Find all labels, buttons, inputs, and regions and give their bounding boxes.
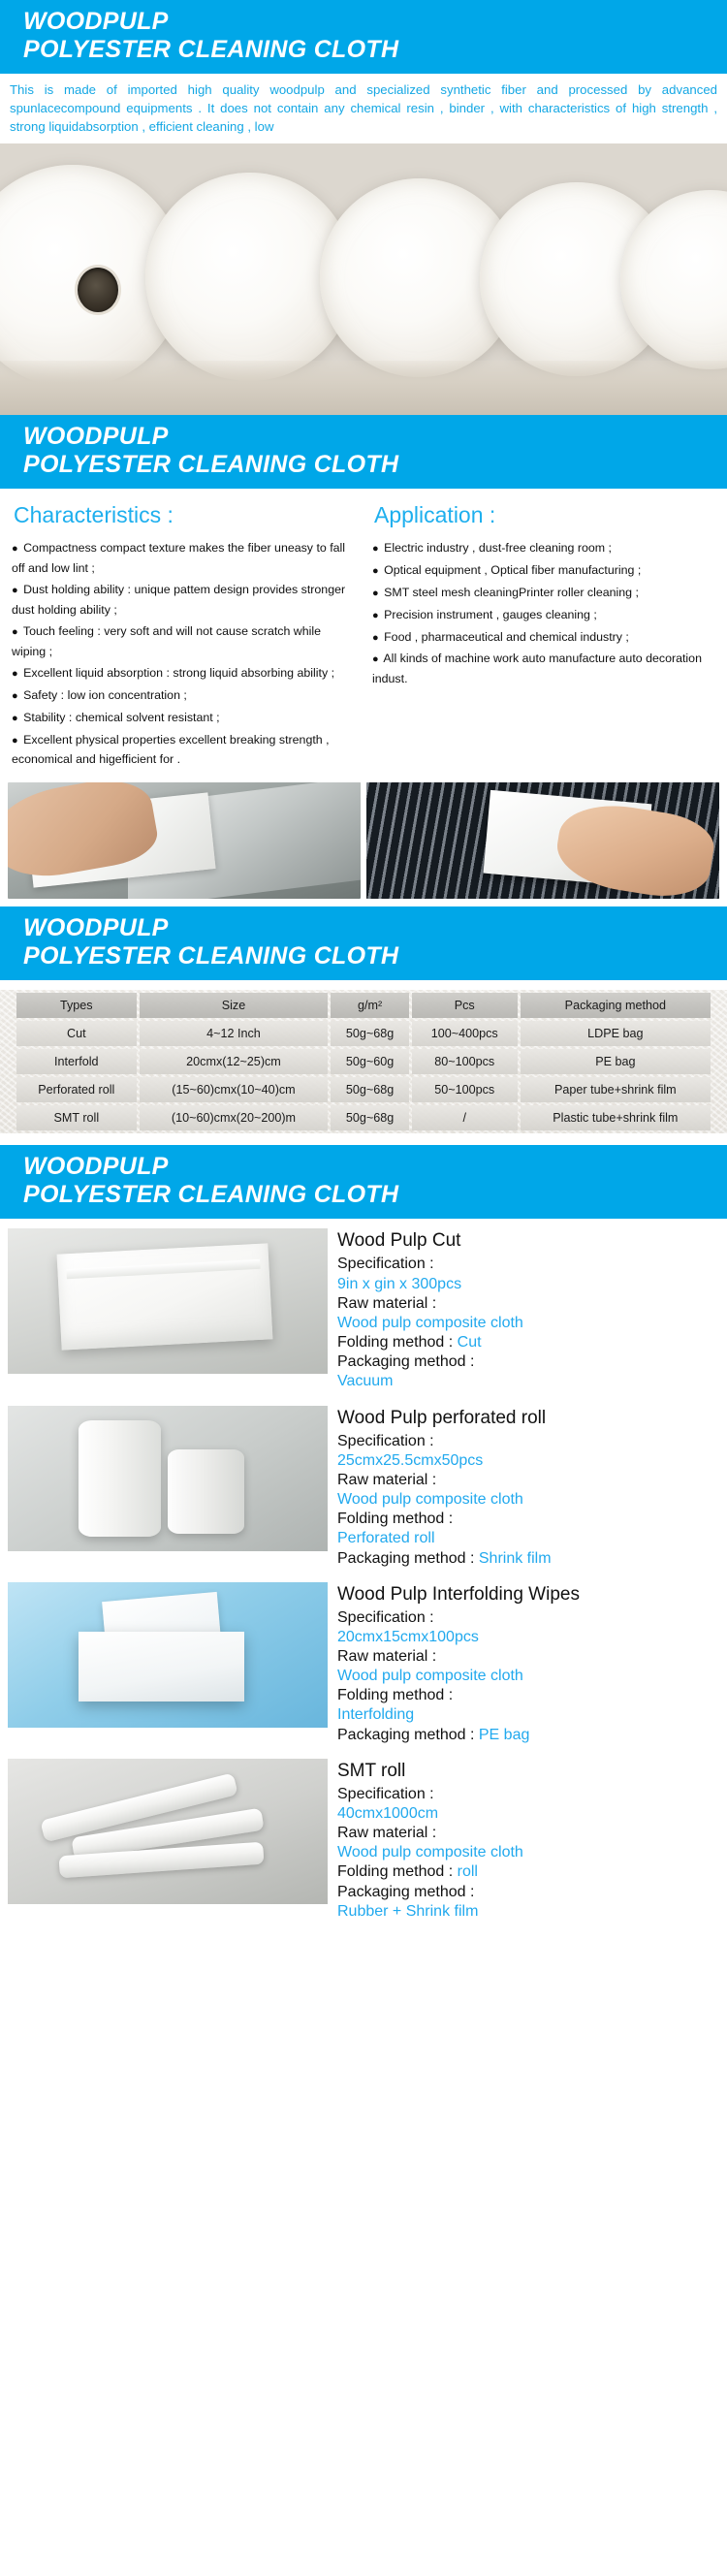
table-row: Perforated roll (15~60)cmx(10~40)cm 50g~… — [16, 1077, 711, 1102]
folding-method-label: Folding method : — [337, 1510, 719, 1529]
raw-material-value: Wood pulp composite cloth — [337, 1490, 719, 1510]
characteristics-item: ● Stability : chemical solvent resistant… — [10, 708, 357, 728]
application-item: ● Food , pharmaceutical and chemical ind… — [370, 627, 717, 648]
table-header-cell: Size — [140, 993, 329, 1018]
table-cell: Paper tube+shrink film — [521, 1077, 711, 1102]
usage-photo-laptop-wiping — [8, 782, 361, 899]
surface-shadow — [0, 361, 727, 415]
specification-table: Types Size g/m² Pcs Packaging method Cut… — [14, 990, 713, 1133]
table-cell: 4~12 Inch — [140, 1021, 329, 1046]
specification-label: Specification : — [337, 1432, 719, 1451]
bullet-dot-icon: ● — [372, 610, 381, 621]
table-cell: 50g~68g — [331, 1105, 408, 1130]
product-thumbnail-perforated-roll — [8, 1406, 328, 1551]
characteristics-item-text: Excellent liquid absorption : strong liq… — [23, 666, 334, 680]
table-header-cell: g/m² — [331, 993, 408, 1018]
roll-image-small — [168, 1449, 244, 1534]
banner-line-2: POLYESTER CLEANING CLOTH — [23, 451, 727, 479]
banner-heading-2: WOODPULP POLYESTER CLEANING CLOTH — [0, 415, 727, 489]
application-item-text: SMT steel mesh cleaningPrinter roller cl… — [384, 586, 639, 599]
banner-line-1: WOODPULP — [23, 423, 169, 450]
banner-line-2: POLYESTER CLEANING CLOTH — [23, 36, 727, 64]
table-cell: 100~400pcs — [412, 1021, 518, 1046]
wipe-stack-image — [56, 1244, 272, 1351]
product-thumbnail-cut — [8, 1228, 328, 1374]
table-cell: Plastic tube+shrink film — [521, 1105, 711, 1130]
product-title: SMT roll — [337, 1761, 719, 1782]
raw-material-value: Wood pulp composite cloth — [337, 1667, 719, 1686]
raw-material-value: Wood pulp composite cloth — [337, 1314, 719, 1333]
intro-paragraph: This is made of imported high quality wo… — [0, 74, 727, 143]
packaging-method-value: Rubber + Shrink film — [337, 1902, 719, 1922]
folding-method-value: Cut — [458, 1334, 482, 1351]
characteristics-item: ● Safety : low ion concentration ; — [10, 685, 357, 706]
table-header-cell: Pcs — [412, 993, 518, 1018]
bullet-dot-icon: ● — [372, 588, 381, 599]
spec-table-section: Types Size g/m² Pcs Packaging method Cut… — [0, 990, 727, 1133]
table-cell: Cut — [16, 1021, 137, 1046]
features-columns: Characteristics : ● Compactness compact … — [0, 489, 727, 777]
specification-label: Specification : — [337, 1255, 719, 1274]
characteristics-heading: Characteristics : — [14, 502, 357, 528]
characteristics-item-text: Excellent physical properties excellent … — [12, 733, 330, 767]
application-column: Application : ● Electric industry , dust… — [370, 502, 717, 771]
product-info: Wood Pulp Cut Specification : 9in x gin … — [337, 1228, 719, 1391]
application-item-text: Food , pharmaceutical and chemical indus… — [384, 630, 629, 644]
banner-line-1: WOODPULP — [23, 1153, 169, 1180]
application-item-text: Electric industry , dust-free cleaning r… — [384, 541, 612, 555]
usage-photo-car-grille-wiping — [366, 782, 719, 899]
product-thumbnail-interfolding — [8, 1582, 328, 1728]
folding-method-label: Folding method : — [337, 1863, 453, 1880]
table-cell: (10~60)cmx(20~200)m — [140, 1105, 329, 1130]
table-cell: 50g~68g — [331, 1077, 408, 1102]
raw-material-label: Raw material : — [337, 1647, 719, 1667]
application-item-text: All kinds of machine work auto manufactu… — [372, 652, 702, 685]
packaging-method-label: Packaging method : — [337, 1352, 719, 1372]
bullet-dot-icon: ● — [12, 585, 20, 596]
table-cell: / — [412, 1105, 518, 1130]
product-detail-page: WOODPULP POLYESTER CLEANING CLOTH This i… — [0, 0, 727, 1939]
banner-line-2: POLYESTER CLEANING CLOTH — [23, 942, 727, 970]
characteristics-item-text: Touch feeling : very soft and will not c… — [12, 624, 321, 658]
table-cell: (15~60)cmx(10~40)cm — [140, 1077, 329, 1102]
application-item: ● Electric industry , dust-free cleaning… — [370, 538, 717, 558]
table-cell: LDPE bag — [521, 1021, 711, 1046]
characteristics-item-text: Compactness compact texture makes the fi… — [12, 541, 345, 575]
packaging-method-label: Packaging method : — [337, 1550, 474, 1567]
specification-value: 40cmx1000cm — [337, 1804, 719, 1824]
bullet-dot-icon: ● — [12, 713, 20, 724]
table-header-row: Types Size g/m² Pcs Packaging method — [16, 993, 711, 1018]
application-heading: Application : — [374, 502, 717, 528]
packaging-method-value: PE bag — [479, 1727, 529, 1743]
table-row: Interfold 20cmx(12~25)cm 50g~60g 80~100p… — [16, 1049, 711, 1074]
product-card-smt-roll: SMT roll Specification : 40cmx1000cm Raw… — [0, 1753, 727, 1929]
product-thumbnail-smt-roll — [8, 1759, 328, 1904]
product-info: Wood Pulp perforated roll Specification … — [337, 1406, 719, 1569]
table-cell: 20cmx(12~25)cm — [140, 1049, 329, 1074]
application-item: ● SMT steel mesh cleaningPrinter roller … — [370, 583, 717, 603]
specification-label: Specification : — [337, 1608, 719, 1628]
banner-line-1: WOODPULP — [23, 8, 169, 35]
raw-material-label: Raw material : — [337, 1824, 719, 1843]
product-title: Wood Pulp Interfolding Wipes — [337, 1584, 719, 1606]
characteristics-item: ● Compactness compact texture makes the … — [10, 538, 357, 578]
application-item-text: Precision instrument , gauges cleaning ; — [384, 608, 597, 621]
table-cell: 50g~60g — [331, 1049, 408, 1074]
bullet-dot-icon: ● — [372, 565, 381, 577]
characteristics-column: Characteristics : ● Compactness compact … — [10, 502, 357, 771]
table-cell: 50g~68g — [331, 1021, 408, 1046]
packaging-method-label: Packaging method : — [337, 1727, 474, 1743]
packaging-method-row: Packaging method : PE bag — [337, 1726, 719, 1745]
roll-image-large — [79, 1420, 162, 1537]
bullet-dot-icon: ● — [12, 690, 20, 702]
specification-value: 20cmx15cmx100pcs — [337, 1628, 719, 1647]
folding-method-label: Folding method : — [337, 1686, 719, 1705]
table-header-cell: Packaging method — [521, 993, 711, 1018]
raw-material-label: Raw material : — [337, 1294, 719, 1314]
folding-method-value: Interfolding — [337, 1705, 719, 1725]
packaging-method-value: Shrink film — [479, 1550, 552, 1567]
characteristics-item: ● Excellent physical properties excellen… — [10, 730, 357, 770]
characteristics-item-text: Safety : low ion concentration ; — [23, 688, 187, 702]
banner-line-1: WOODPULP — [23, 914, 169, 941]
packaging-method-value: Vacuum — [337, 1372, 719, 1391]
usage-photo-strip — [0, 777, 727, 906]
product-card-wood-pulp-perforated-roll: Wood Pulp perforated roll Specification … — [0, 1400, 727, 1576]
banner-heading-3: WOODPULP POLYESTER CLEANING CLOTH — [0, 906, 727, 980]
application-item: ● All kinds of machine work auto manufac… — [370, 649, 717, 688]
bullet-dot-icon: ● — [372, 632, 381, 644]
packaging-method-label: Packaging method : — [337, 1883, 719, 1902]
application-item-text: Optical equipment , Optical fiber manufa… — [384, 563, 641, 577]
table-row: Cut 4~12 Inch 50g~68g 100~400pcs LDPE ba… — [16, 1021, 711, 1046]
banner-line-2: POLYESTER CLEANING CLOTH — [23, 1181, 727, 1209]
specification-value: 9in x gin x 300pcs — [337, 1275, 719, 1294]
bullet-dot-icon: ● — [372, 653, 381, 665]
folding-method-label: Folding method : — [337, 1334, 453, 1351]
characteristics-item: ● Dust holding ability : unique pattem d… — [10, 580, 357, 620]
product-title: Wood Pulp Cut — [337, 1230, 719, 1252]
product-hero-photo-rolls — [0, 143, 727, 415]
folding-method-value: Perforated roll — [337, 1529, 719, 1548]
product-cards-list: Wood Pulp Cut Specification : 9in x gin … — [0, 1219, 727, 1938]
table-row: SMT roll (10~60)cmx(20~200)m 50g~68g / P… — [16, 1105, 711, 1130]
folding-method-row: Folding method : Cut — [337, 1333, 719, 1352]
banner-heading-1: WOODPULP POLYESTER CLEANING CLOTH — [0, 0, 727, 74]
application-item: ● Precision instrument , gauges cleaning… — [370, 605, 717, 625]
table-cell: SMT roll — [16, 1105, 137, 1130]
specification-label: Specification : — [337, 1785, 719, 1804]
table-header-cell: Types — [16, 993, 137, 1018]
folding-method-value: roll — [458, 1863, 478, 1880]
characteristics-item-text: Stability : chemical solvent resistant ; — [23, 711, 219, 724]
dispenser-box-image — [79, 1632, 245, 1701]
bullet-dot-icon: ● — [12, 668, 20, 680]
bullet-dot-icon: ● — [12, 735, 20, 747]
product-info: SMT roll Specification : 40cmx1000cm Raw… — [337, 1759, 719, 1922]
raw-material-value: Wood pulp composite cloth — [337, 1843, 719, 1862]
characteristics-item-text: Dust holding ability : unique pattem des… — [12, 583, 345, 617]
product-card-wood-pulp-cut: Wood Pulp Cut Specification : 9in x gin … — [0, 1223, 727, 1399]
table-cell: PE bag — [521, 1049, 711, 1074]
specification-value: 25cmx25.5cmx50pcs — [337, 1451, 719, 1471]
table-cell: 50~100pcs — [412, 1077, 518, 1102]
product-info: Wood Pulp Interfolding Wipes Specificati… — [337, 1582, 719, 1745]
characteristics-item: ● Touch feeling : very soft and will not… — [10, 621, 357, 661]
product-card-wood-pulp-interfolding-wipes: Wood Pulp Interfolding Wipes Specificati… — [0, 1576, 727, 1753]
folding-method-row: Folding method : roll — [337, 1862, 719, 1882]
banner-heading-4: WOODPULP POLYESTER CLEANING CLOTH — [0, 1145, 727, 1219]
application-item: ● Optical equipment , Optical fiber manu… — [370, 560, 717, 581]
bullet-dot-icon: ● — [12, 543, 20, 555]
table-cell: 80~100pcs — [412, 1049, 518, 1074]
raw-material-label: Raw material : — [337, 1471, 719, 1490]
packaging-method-row: Packaging method : Shrink film — [337, 1549, 719, 1569]
table-cell: Perforated roll — [16, 1077, 137, 1102]
product-title: Wood Pulp perforated roll — [337, 1408, 719, 1429]
characteristics-item: ● Excellent liquid absorption : strong l… — [10, 663, 357, 684]
bullet-dot-icon: ● — [372, 543, 381, 555]
bullet-dot-icon: ● — [12, 626, 20, 638]
table-cell: Interfold — [16, 1049, 137, 1074]
